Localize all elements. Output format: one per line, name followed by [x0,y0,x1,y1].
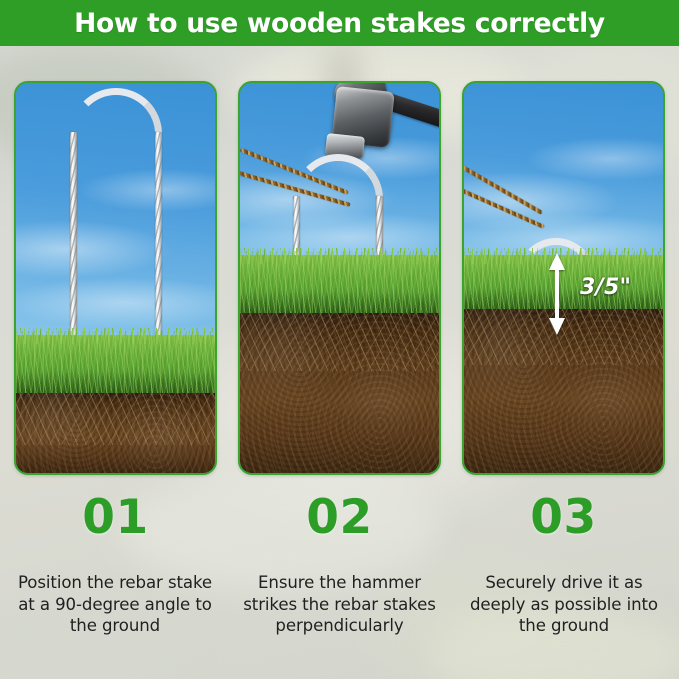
infographic-page: How to use wooden stakes correctly [0,0,679,679]
step-number-01: 01 [14,487,217,549]
step-1-scene [16,83,215,473]
soil-layer [240,313,439,473]
soil-layer [16,393,215,473]
step-3-panel: 3/5" [462,81,665,475]
hammer [318,83,439,187]
sky [464,83,663,273]
step-numbers-row: 01 02 03 [14,487,665,549]
hammer-face [325,133,365,159]
step-caption-03: Securely drive it as deeply as possible … [457,572,671,652]
sky [16,83,215,351]
step-caption-01: Position the rebar stake at a 90-degree … [8,572,222,652]
header-banner: How to use wooden stakes correctly [0,0,679,46]
step-number-02: 02 [238,487,441,549]
step-2-panel [238,81,441,475]
grass-layer [16,335,215,397]
step-2-scene [240,83,439,473]
step-number-03: 03 [462,487,665,549]
measure-label: 3/5" [580,275,631,300]
step-1-panel [14,81,217,475]
grass-layer [240,255,439,317]
page-title: How to use wooden stakes correctly [74,8,605,39]
illustration-panels: 3/5" [14,81,665,475]
grass-layer [464,255,663,313]
soil-layer [464,309,663,473]
step-caption-02: Ensure the hammer strikes the rebar stak… [233,572,447,652]
step-3-scene: 3/5" [464,83,663,473]
step-captions-row: Position the rebar stake at a 90-degree … [8,572,671,652]
